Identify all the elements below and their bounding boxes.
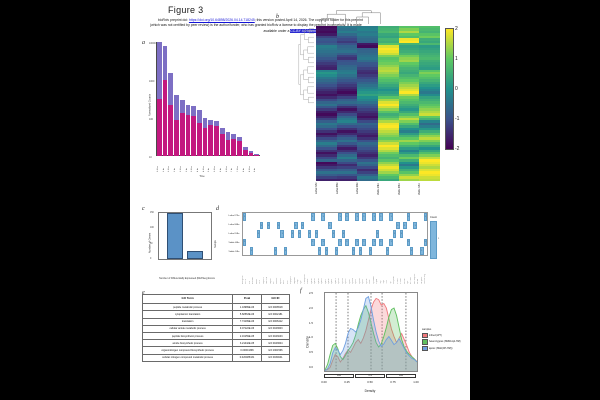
heatmap-column-labels: Lethal 72hrLethal 48hrLethal 24hrViable … <box>316 183 440 205</box>
table-row: translation7.74199E-06GO:0006412 <box>143 318 290 325</box>
table-cell: 3.21442E-05 <box>233 340 262 347</box>
tile-row-label: Viable 48hr <box>212 238 241 247</box>
xtick-label: 1.00 <box>413 380 418 384</box>
panel-a-stacked-bar-chart: Normalized Counts 10000100010010 0.5 hr1… <box>138 38 266 178</box>
table-cell: 0.020485431 <box>233 354 262 361</box>
tile-slot: 1 <box>424 213 427 221</box>
legend-label: inbred (WT) <box>429 334 442 337</box>
panel-e-go-table: GO TermP.valGO ID peptide metabolic proc… <box>138 288 293 362</box>
ytick-label: 100 <box>149 118 153 121</box>
bar-lower-segment <box>163 80 168 156</box>
bar-upper-segment <box>168 73 173 105</box>
heatmap-column <box>399 26 420 181</box>
xtick-label: 0.5 hr <box>157 156 162 172</box>
xtick-label: 1.5 hr <box>168 156 173 172</box>
heatmap-cell <box>316 179 337 181</box>
bar-segment-group <box>163 46 168 156</box>
table-cell: GO:0043043 <box>261 333 289 340</box>
panel-b-heatmap: Lethal 72hrLethal 48hrLethal 24hrViable … <box>272 10 468 205</box>
heatmap-cell <box>419 179 440 181</box>
go-enrichment-table: GO TermP.valGO ID peptide metabolic proc… <box>142 294 290 362</box>
tile-row: 111111111111 <box>243 247 427 255</box>
bar-segment-group <box>180 100 185 156</box>
panel-c-xlabel: Number of Differentially Expressed (DEXS… <box>156 277 218 280</box>
heatmap-column <box>337 26 358 181</box>
bar-segment-group <box>157 42 162 156</box>
bar-segment-group <box>168 73 173 156</box>
heatmap-cell <box>337 179 358 181</box>
xtick-label: 7 hr <box>231 156 236 172</box>
ytick-label: 1000 <box>149 80 154 83</box>
bar-segment-group <box>186 105 191 156</box>
heatmap-column-label: Viable 72hr <box>419 183 440 205</box>
panel-a-xticklabels: 0.5 hr1 hr1.5 hr2 hr2.5 hr3 hr3.5 hr4 hr… <box>156 156 260 172</box>
bar-lower-segment <box>180 113 185 156</box>
xtick-label: 6.5 hr <box>226 156 231 172</box>
legend-item[interactable]: heterozygous (SMN1/spl-HM) <box>422 339 466 345</box>
figure-page: Figure 3 bioRxiv preprint doi: https://d… <box>130 0 470 400</box>
bar-segment-group <box>203 118 208 156</box>
colorbar-tick: -1 <box>455 116 459 122</box>
table-cell: 7.74199E-06 <box>233 318 262 325</box>
panel-f-region-brackets: exonCDSexon <box>324 374 416 378</box>
table-cell: 0.00004396 <box>233 347 262 354</box>
xtick-label: 2.5 hr <box>180 156 185 172</box>
heatmap-cell <box>399 179 420 181</box>
xtick-label: 3.5 hr <box>191 156 196 172</box>
bar-lower-segment <box>157 99 162 156</box>
bar-lower-segment <box>203 128 208 156</box>
bar-segment-group <box>243 147 248 156</box>
table-row: cytoplasmic translation5.82563E-06GO:000… <box>143 311 290 318</box>
region-bracket: exon <box>324 374 354 378</box>
region-bracket: CDS <box>355 374 385 378</box>
table-cell: peptide metabolic process <box>143 304 233 311</box>
xtick-label: 0.75 <box>390 380 395 384</box>
bar-segment-group <box>197 110 202 156</box>
panel-d-legend-title: Count <box>430 216 460 219</box>
table-row: peptide biosynthetic process2.16159E-05G… <box>143 333 290 340</box>
table-cell: 1.43989E-06 <box>233 304 262 311</box>
bar-upper-segment <box>197 110 202 122</box>
legend-item[interactable]: inbred (WT) <box>422 333 466 339</box>
legend-swatch <box>422 346 428 352</box>
xtick-label: 0.25 <box>344 380 349 384</box>
heatmap-column-label: Viable 24hr <box>378 183 399 205</box>
ytick-label: 1.0 <box>309 335 313 339</box>
region-bracket: exon <box>386 374 416 378</box>
panel-d-legend-tick: 1 <box>438 238 439 240</box>
ytick-label: 50 <box>150 243 153 245</box>
ytick-label: 0 <box>150 258 151 260</box>
xtick-label: 8.5 hr <box>249 156 254 172</box>
panel-d-rows: 1111111111111111111111111111111111111111… <box>243 213 427 255</box>
panel-d-legend-bar <box>430 221 437 259</box>
table-cell: translation <box>143 318 233 325</box>
panel-c-bars <box>161 213 209 259</box>
panel-c-plot-area <box>158 212 212 260</box>
table-cell: 2.16159E-05 <box>233 333 262 340</box>
bar-lower-segment <box>208 125 213 156</box>
panel-a-plot-area <box>156 42 260 156</box>
tile-slot: 1 <box>424 238 427 246</box>
bar-upper-segment <box>180 100 185 112</box>
table-body: peptide metabolic process1.43989E-06GO:0… <box>143 304 290 362</box>
legend-swatch <box>422 333 428 339</box>
row-dendrogram <box>298 26 314 106</box>
bar-upper-segment <box>186 105 191 115</box>
count-tile[interactable]: 1 <box>424 213 427 221</box>
xtick-label: 6 hr <box>220 156 225 172</box>
bar <box>167 213 183 259</box>
table-row: cellular amide metabolic process9.07122E… <box>143 325 290 332</box>
density-curves <box>325 293 417 371</box>
panel-f-plot-area <box>324 292 418 372</box>
tile-row-label: Lethal 24hr <box>212 230 241 239</box>
table-cell: 5.82563E-06 <box>233 311 262 318</box>
bar-lower-segment <box>231 139 236 156</box>
bar-lower-segment <box>220 134 225 156</box>
tile-column-label: Srp54 <box>376 257 379 284</box>
bar-lower-segment <box>186 115 191 156</box>
bar-upper-segment <box>174 95 179 120</box>
heatmap-cell <box>357 179 378 181</box>
bar-upper-segment <box>163 46 168 81</box>
bar-upper-segment <box>226 132 231 139</box>
heatmap-column-label: Viable 48hr <box>399 183 420 205</box>
bar-lower-segment <box>168 105 173 156</box>
xtick-label: 2 hr <box>174 156 179 172</box>
panel-d-column-labels: AdenylateCCT8CrkDhc64CEif4GFer1Gapdh1Hsc… <box>242 257 428 284</box>
tile-row-label: Viable 24hr <box>212 247 241 256</box>
panel-d-legend: Count 1 <box>430 216 460 259</box>
colorbar-tick: -2 <box>455 146 459 152</box>
table-cell: GO:0043603 <box>261 325 289 332</box>
heatmap-cell <box>378 179 399 181</box>
panel-f-xlabel: Density <box>324 389 416 393</box>
table-cell: GO:0006412 <box>261 318 289 325</box>
ytick-label: 10 <box>149 156 152 159</box>
table-cell: organonitrogen compound biosynthetic pro… <box>143 347 233 354</box>
bar-segment-group <box>231 134 236 156</box>
bar-upper-segment <box>157 42 162 99</box>
ytick-label: 150 <box>150 212 154 214</box>
heatmap-column <box>419 26 440 181</box>
xtick-label: 0.50 <box>367 380 372 384</box>
heatmap-colorbar-ticks: 210-1-2 <box>455 24 466 152</box>
heatmap-column-label: Lethal 48hr <box>337 183 358 205</box>
tile-row-label: Lethal 48hr <box>212 221 241 230</box>
ytick-label: 0.0 <box>309 365 313 369</box>
tile-column-label: Hsc70-4 <box>266 257 269 284</box>
bar-segment-group <box>214 121 219 156</box>
bar-upper-segment <box>203 118 208 128</box>
bar-segment-group <box>191 106 196 156</box>
bar-segment-group <box>220 128 225 157</box>
table-header-row: GO TermP.valGO ID <box>143 295 290 304</box>
ytick-label: 1.5 <box>309 321 313 325</box>
bar-segment-group <box>237 137 242 156</box>
ytick-label: 100 <box>150 227 154 229</box>
table-cell: GO:0043604 <box>261 340 289 347</box>
table-cell: GO:0034641 <box>261 354 289 361</box>
legend-swatch <box>422 339 428 345</box>
bar-segment-group <box>174 95 179 156</box>
xtick-label: 8 hr <box>243 156 248 172</box>
panel-d-tile-plot: Sample Lethal 72hrLethal 48hrLethal 24hr… <box>212 204 462 284</box>
panel-a-bars <box>156 42 260 156</box>
tile-row-label: Lethal 72hr <box>212 212 241 221</box>
bar-lower-segment <box>214 126 219 156</box>
table-cell: cytoplasmic translation <box>143 311 233 318</box>
bar-lower-segment <box>191 116 196 156</box>
xtick-label: 5.5 hr <box>214 156 219 172</box>
bar-lower-segment <box>174 120 179 156</box>
bar-segment-group <box>208 120 213 156</box>
colorbar-tick: 0 <box>455 86 458 92</box>
bar-segment-group <box>226 132 231 156</box>
heatmap-colorbar <box>445 28 454 150</box>
panel-c-bar-chart: Number of Genes 150100500 Number of Diff… <box>138 204 218 282</box>
table-row: amide biosynthetic process3.21442E-05GO:… <box>143 340 290 347</box>
table-row: peptide metabolic process1.43989E-06GO:0… <box>143 304 290 311</box>
legend-label: heterozygous (SMN1/spl-HM) <box>429 340 461 343</box>
xtick-label: 4 hr <box>197 156 202 172</box>
legend-item[interactable]: aposc (SMA(CH-HM)) <box>422 346 466 352</box>
xtick-label: 1 hr <box>163 156 168 172</box>
table-cell: cellular nitrogen compound metabolic pro… <box>143 354 233 361</box>
table-cell: amide biosynthetic process <box>143 340 233 347</box>
bar-upper-segment <box>191 106 196 116</box>
colorbar-tick: 2 <box>455 26 458 32</box>
panel-d-plot-area: 1111111111111111111111111111111111111111… <box>242 212 428 256</box>
xtick-label: 4.5 hr <box>203 156 208 172</box>
table-row: cellular nitrogen compound metabolic pro… <box>143 354 290 361</box>
tile-slot <box>424 230 427 238</box>
panel-a-xlabel: Time <box>138 175 266 178</box>
ytick-label: 2.0 <box>309 306 313 310</box>
xtick-label: 3 hr <box>186 156 191 172</box>
panel-d-row-labels: Lethal 72hrLethal 48hrLethal 24hrViable … <box>212 212 241 256</box>
panel-f-legend-title: samples <box>422 328 466 331</box>
table-cell: 9.07122E-06 <box>233 325 262 332</box>
table-cell: cellular amide metabolic process <box>143 325 233 332</box>
tile-row: 111111111 <box>243 221 427 229</box>
heatmap-grid <box>316 26 440 181</box>
tile-row: 111111111111 <box>243 213 427 221</box>
panel-f-density-plot: Density 2.52.01.51.00.50.0 exonCDSexon 0… <box>296 286 466 398</box>
tile-row: 111111111111 <box>243 238 427 246</box>
ytick-label: 10000 <box>149 42 156 45</box>
bar-lower-segment <box>226 140 231 156</box>
xtick-label: 0.00 <box>321 380 326 384</box>
page-title: Figure 3 <box>168 5 203 15</box>
table-column-header: P.val <box>233 295 262 304</box>
tile-column-label: rudimentary <box>424 257 427 284</box>
table-row: organonitrogen compound biosynthetic pro… <box>143 347 290 354</box>
table-column-header: GO ID <box>261 295 289 304</box>
heatmap-column-label: Lethal 24hr <box>357 183 378 205</box>
table-column-header: GO Term <box>143 295 233 304</box>
figure-viewer: Figure 3 bioRxiv preprint doi: https://d… <box>0 0 600 400</box>
xtick-label: 5 hr <box>208 156 213 172</box>
table-cell: GO:0002181 <box>261 311 289 318</box>
bar-lower-segment <box>197 123 202 156</box>
table-cell: GO:1901566 <box>261 347 289 354</box>
table-cell: GO:0006518 <box>261 304 289 311</box>
bar-lower-segment <box>237 141 242 156</box>
count-tile[interactable]: 1 <box>424 239 427 247</box>
ytick-label: 0.5 <box>309 350 313 354</box>
panel-a-ylabel: Normalized Counts <box>149 94 152 116</box>
banner-doi-link[interactable]: https://doi.org/10.64898/2026.04.14.7182… <box>189 18 255 22</box>
heatmap-column <box>378 26 399 181</box>
panel-f-legend: samples inbred (WT)heterozygous (SMN1/sp… <box>422 328 466 352</box>
tile-row: 11111111111 <box>243 230 427 238</box>
heatmap-column-label: Lethal 72hr <box>316 183 337 205</box>
xtick-label: 9 hr <box>254 156 259 172</box>
colorbar-tick: 1 <box>455 56 458 62</box>
xtick-label: 7.5 hr <box>237 156 242 172</box>
banner-doi-prefix: bioRxiv preprint doi: <box>158 18 189 22</box>
heatmap-column <box>316 26 337 181</box>
tile-slot <box>424 247 427 255</box>
ytick-label: 2.5 <box>309 291 313 295</box>
tile-column-label: RpL23 <box>321 257 324 284</box>
panel-f-legend-items: inbred (WT)heterozygous (SMN1/spl-HM)apo… <box>422 333 466 352</box>
table-cell: peptide biosynthetic process <box>143 333 233 340</box>
column-dendrogram <box>316 10 386 24</box>
bar <box>187 251 203 259</box>
heatmap-column <box>357 26 378 181</box>
legend-label: aposc (SMA(CH-HM)) <box>429 347 452 350</box>
tile-slot <box>424 221 427 229</box>
